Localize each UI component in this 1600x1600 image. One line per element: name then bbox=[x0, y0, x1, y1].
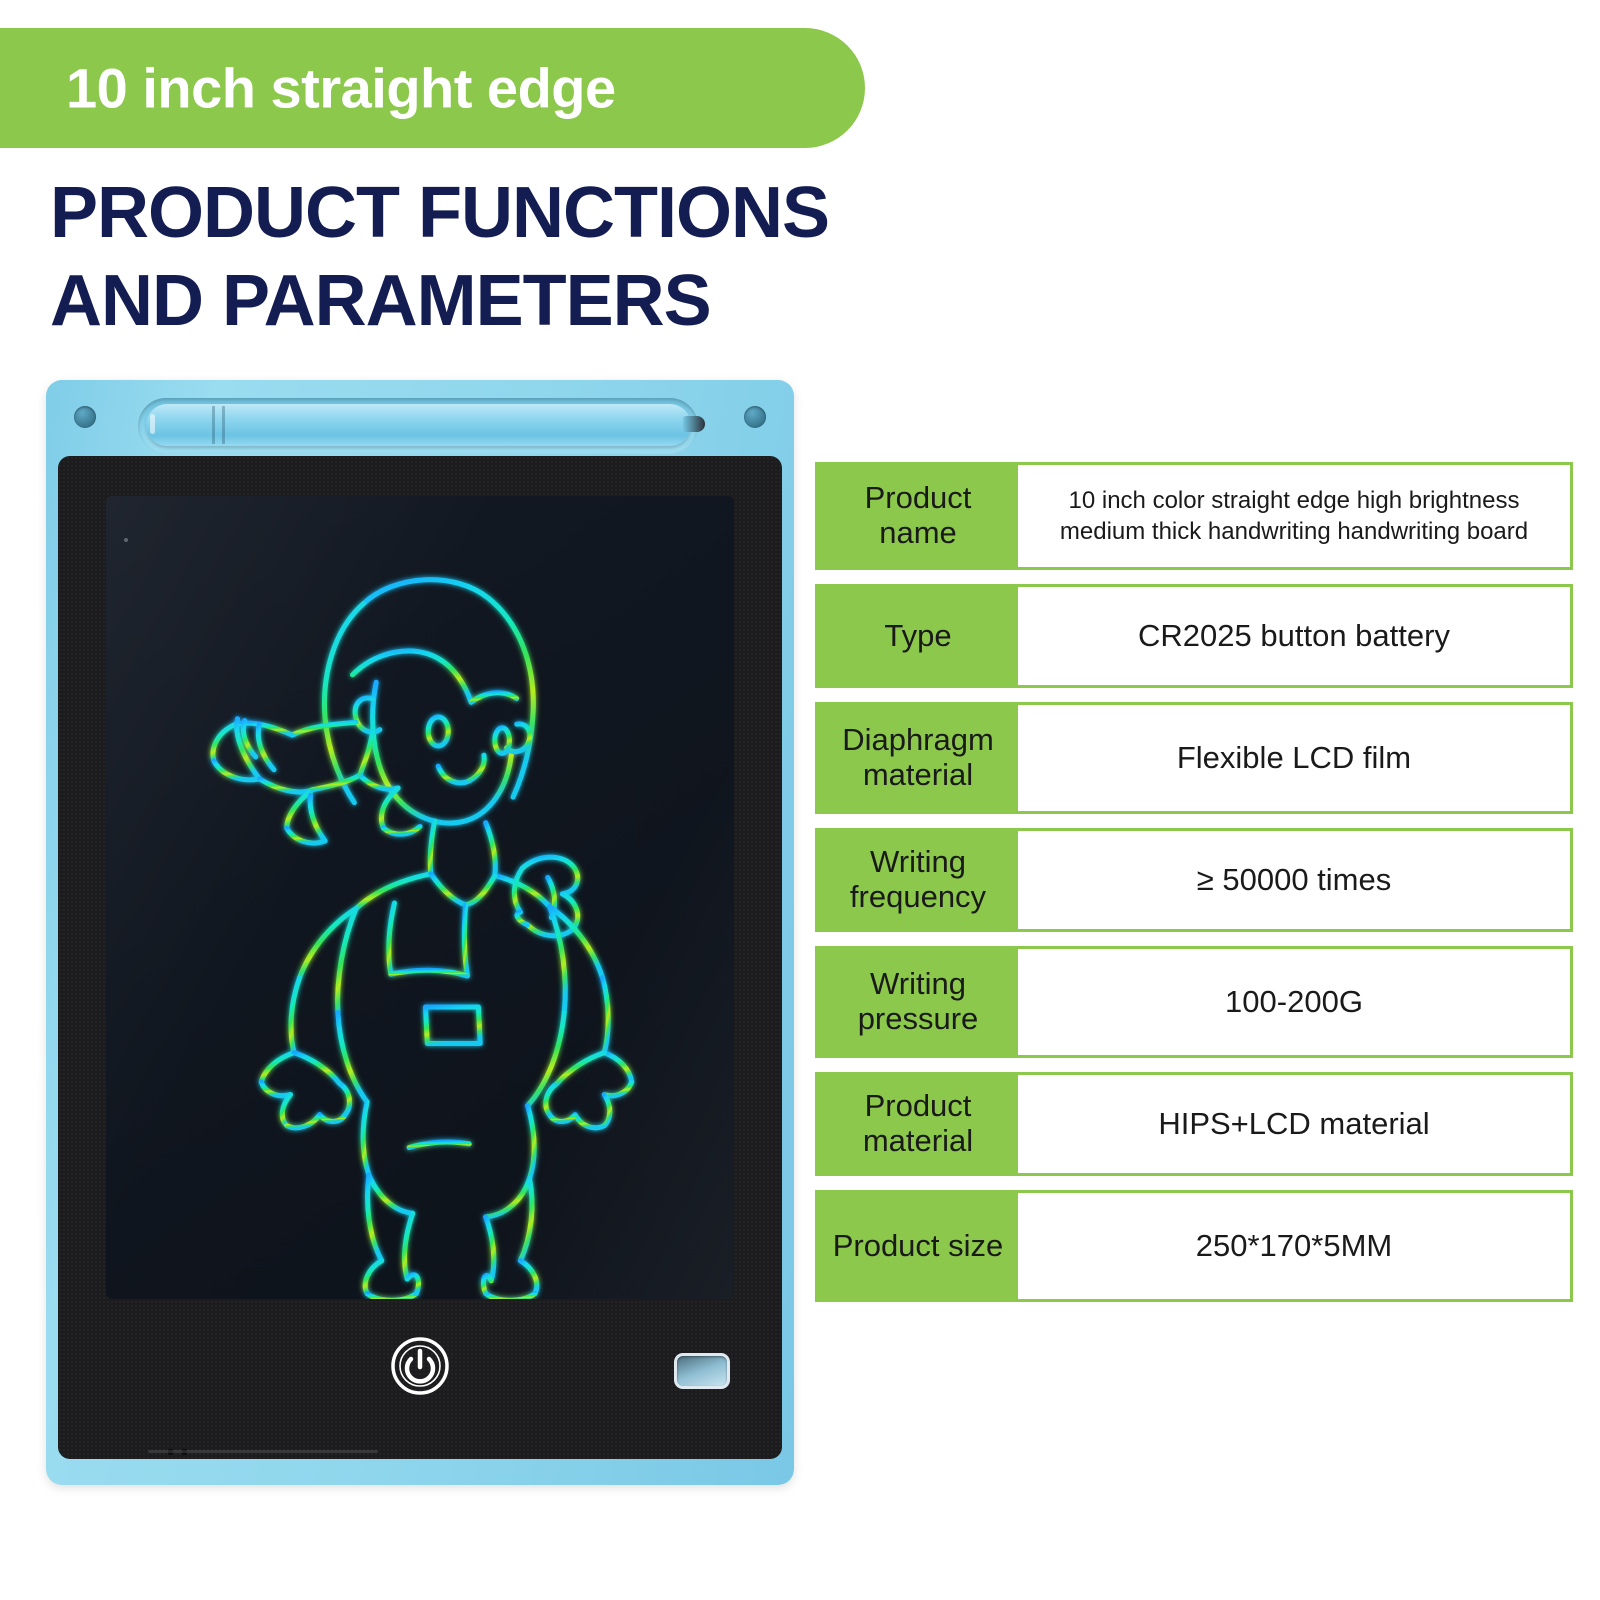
table-row: Product name 10 inch color straight edge… bbox=[815, 462, 1573, 570]
page-title-line-2: AND PARAMETERS bbox=[50, 258, 950, 346]
spec-label-writing-pressure: Writing pressure bbox=[818, 949, 1018, 1055]
spec-value-writing-frequency: ≥ 50000 times bbox=[1018, 831, 1570, 929]
header-badge-label: 10 inch straight edge bbox=[66, 56, 616, 121]
screw-hole-right-icon bbox=[744, 406, 766, 428]
spec-value-product-size: 250*170*5MM bbox=[1018, 1193, 1570, 1299]
table-row: Diaphragm material Flexible LCD film bbox=[815, 702, 1573, 814]
table-row: Product size 250*170*5MM bbox=[815, 1190, 1573, 1302]
bottom-edge-line bbox=[148, 1450, 378, 1453]
table-row: Writing pressure 100-200G bbox=[815, 946, 1573, 1058]
spec-label-type: Type bbox=[818, 587, 1018, 685]
lock-slot-icon bbox=[674, 1353, 730, 1389]
tablet-black-body bbox=[58, 456, 782, 1459]
spec-value-type: CR2025 button battery bbox=[1018, 587, 1570, 685]
screen-drawing-girl bbox=[106, 496, 734, 1299]
table-row: Writing frequency ≥ 50000 times bbox=[815, 828, 1573, 932]
page-title-line-1: PRODUCT FUNCTIONS bbox=[50, 173, 829, 253]
spec-value-diaphragm-material: Flexible LCD film bbox=[1018, 705, 1570, 811]
spec-value-product-material: HIPS+LCD material bbox=[1018, 1075, 1570, 1173]
stylus-cap bbox=[150, 414, 155, 434]
spec-value-product-name: 10 inch color straight edge high brightn… bbox=[1018, 465, 1570, 567]
table-row: Product material HIPS+LCD material bbox=[815, 1072, 1573, 1176]
header-badge: 10 inch straight edge bbox=[0, 28, 865, 148]
spec-value-writing-pressure: 100-200G bbox=[1018, 949, 1570, 1055]
screw-hole-left-icon bbox=[74, 406, 96, 428]
power-erase-button-icon[interactable] bbox=[389, 1335, 451, 1397]
table-row: Type CR2025 button battery bbox=[815, 584, 1573, 688]
spec-label-writing-frequency: Writing frequency bbox=[818, 831, 1018, 929]
spec-label-product-size: Product size bbox=[818, 1193, 1018, 1299]
product-photo-lcd-writing-tablet bbox=[46, 380, 794, 1485]
spec-label-product-name: Product name bbox=[818, 465, 1018, 567]
stylus-ring bbox=[212, 406, 215, 444]
stylus-ring bbox=[222, 406, 225, 444]
stylus-tip bbox=[683, 416, 705, 432]
spec-label-diaphragm-material: Diaphragm material bbox=[818, 705, 1018, 811]
stylus-pen-icon bbox=[146, 404, 691, 446]
specification-table: Product name 10 inch color straight edge… bbox=[815, 462, 1573, 1316]
spec-label-product-material: Product material bbox=[818, 1075, 1018, 1173]
page-title: PRODUCT FUNCTIONS AND PARAMETERS bbox=[50, 170, 950, 346]
tablet-screen bbox=[106, 496, 734, 1299]
